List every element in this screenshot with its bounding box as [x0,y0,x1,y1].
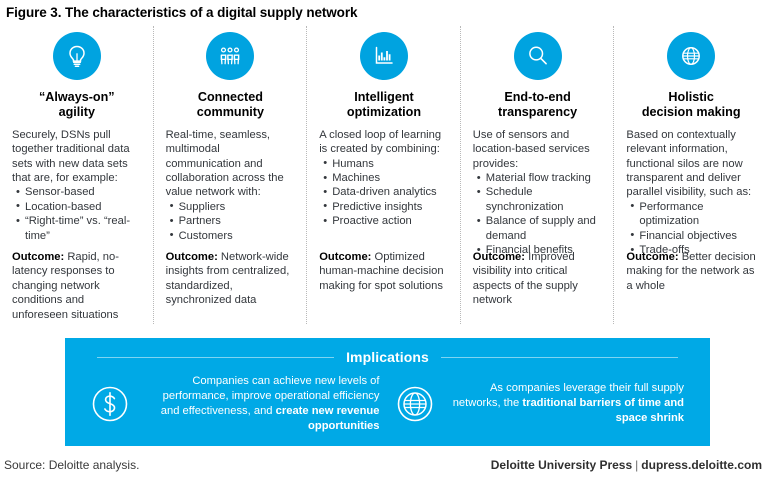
list-item: Balance of supply and demand [477,214,603,243]
column-intro: Use of sensors and location-based servic… [473,128,603,171]
list-item: “Right-time” vs. “real-time” [16,214,142,243]
column-bullet-list: Humans Machines Data-driven analytics Pr… [319,157,449,229]
characteristic-column-intelligent-optimization: Intelligent optimization A closed loop o… [307,26,461,328]
column-title: Intelligent optimization [319,90,449,120]
list-item: Proactive action [323,214,449,228]
column-outcome: Outcome: Better decision making for the … [626,250,756,293]
characteristic-column-end-to-end-transparency: End-to-end transparency Use of sensors a… [461,26,615,328]
column-bullet-list: Sensor-based Location-based “Right-time”… [12,185,142,243]
column-intro: Real-time, seamless, multimodal communic… [166,128,296,200]
lightbulb-icon [53,32,101,80]
column-title: End-to-end transparency [473,90,603,120]
divider-left [97,357,334,358]
list-item: Suppliers [170,200,296,214]
outcome-label: Outcome: [473,251,525,263]
characteristics-columns: “Always-on” agility Securely, DSNs pull … [0,26,768,328]
list-item: Customers [170,229,296,243]
column-body: Use of sensors and location-based servic… [473,128,603,258]
implication-item-barriers: As companies leverage their full supply … [388,374,693,434]
column-bullet-list: Suppliers Partners Customers [166,200,296,243]
implication-bold-text: traditional barriers of time and space s… [522,397,684,424]
characteristic-column-holistic-decision-making: Holistic decision making Based on contex… [614,26,768,328]
source-note: Source: Deloitte analysis. [0,458,139,472]
column-bullet-list: Performance optimization Financial objec… [626,200,756,258]
list-item: Performance optimization [630,200,756,229]
footer: Source: Deloitte analysis. Deloitte Univ… [0,458,768,472]
column-outcome: Outcome: Rapid, no-latency responses to … [12,250,142,322]
people-group-icon [206,32,254,80]
column-intro: Securely, DSNs pull together traditional… [12,128,142,186]
list-item: Machines [323,171,449,185]
bar-chart-icon [360,32,408,80]
implication-text: Companies can achieve new levels of perf… [143,374,384,434]
list-item: Sensor-based [16,185,142,199]
implications-title: Implications [346,349,429,365]
implications-body: Companies can achieve new levels of perf… [65,365,710,434]
outcome-label: Outcome: [166,251,218,263]
magnifier-icon [514,32,562,80]
separator: | [632,458,641,472]
dollar-circle-icon [87,381,133,427]
list-item: Partners [170,214,296,228]
implications-banner: Implications Companies can achieve new l… [65,338,710,446]
globe-icon [667,32,715,80]
column-body: Securely, DSNs pull together traditional… [12,128,142,244]
implication-item-revenue: Companies can achieve new levels of perf… [83,374,388,434]
publisher-credit: Deloitte University Press|dupress.deloit… [491,458,762,472]
page-title: Figure 3. The characteristics of a digit… [0,0,768,21]
icon-wrap [12,32,142,80]
column-body: Based on contextually relevant informati… [626,128,756,258]
column-body: A closed loop of learning is created by … [319,128,449,229]
icon-wrap [473,32,603,80]
icon-wrap [319,32,449,80]
icon-wrap [166,32,296,80]
list-item: Location-based [16,200,142,214]
implications-header: Implications [65,338,710,365]
divider-right [441,357,678,358]
characteristic-column-connected-community: Connected community Real-time, seamless,… [154,26,308,328]
column-body: Real-time, seamless, multimodal communic… [166,128,296,244]
list-item: Financial objectives [630,229,756,243]
icon-wrap [626,32,756,80]
outcome-label: Outcome: [319,251,371,263]
column-title: “Always-on” agility [12,90,142,120]
column-outcome: Outcome: Network-wide insights from cent… [166,250,296,308]
column-outcome: Outcome: Optimized human-machine decisio… [319,250,449,293]
implication-text: As companies leverage their full supply … [448,381,689,426]
column-title: Holistic decision making [626,90,756,120]
globe-circle-icon [392,381,438,427]
outcome-label: Outcome: [12,251,64,263]
column-outcome: Outcome: Improved visibility into critic… [473,250,603,308]
column-intro: A closed loop of learning is created by … [319,128,449,157]
list-item: Predictive insights [323,200,449,214]
outcome-label: Outcome: [626,251,678,263]
column-intro: Based on contextually relevant informati… [626,128,756,200]
publisher-name: Deloitte University Press [491,458,632,472]
implication-bold-text: create new revenue opportunities [276,405,380,432]
publisher-url[interactable]: dupress.deloitte.com [641,458,762,472]
list-item: Schedule synchronization [477,185,603,214]
column-bullet-list: Material flow tracking Schedule synchron… [473,171,603,258]
list-item: Material flow tracking [477,171,603,185]
column-title: Connected community [166,90,296,120]
characteristic-column-always-on-agility: “Always-on” agility Securely, DSNs pull … [0,26,154,328]
list-item: Data-driven analytics [323,185,449,199]
list-item: Humans [323,157,449,171]
